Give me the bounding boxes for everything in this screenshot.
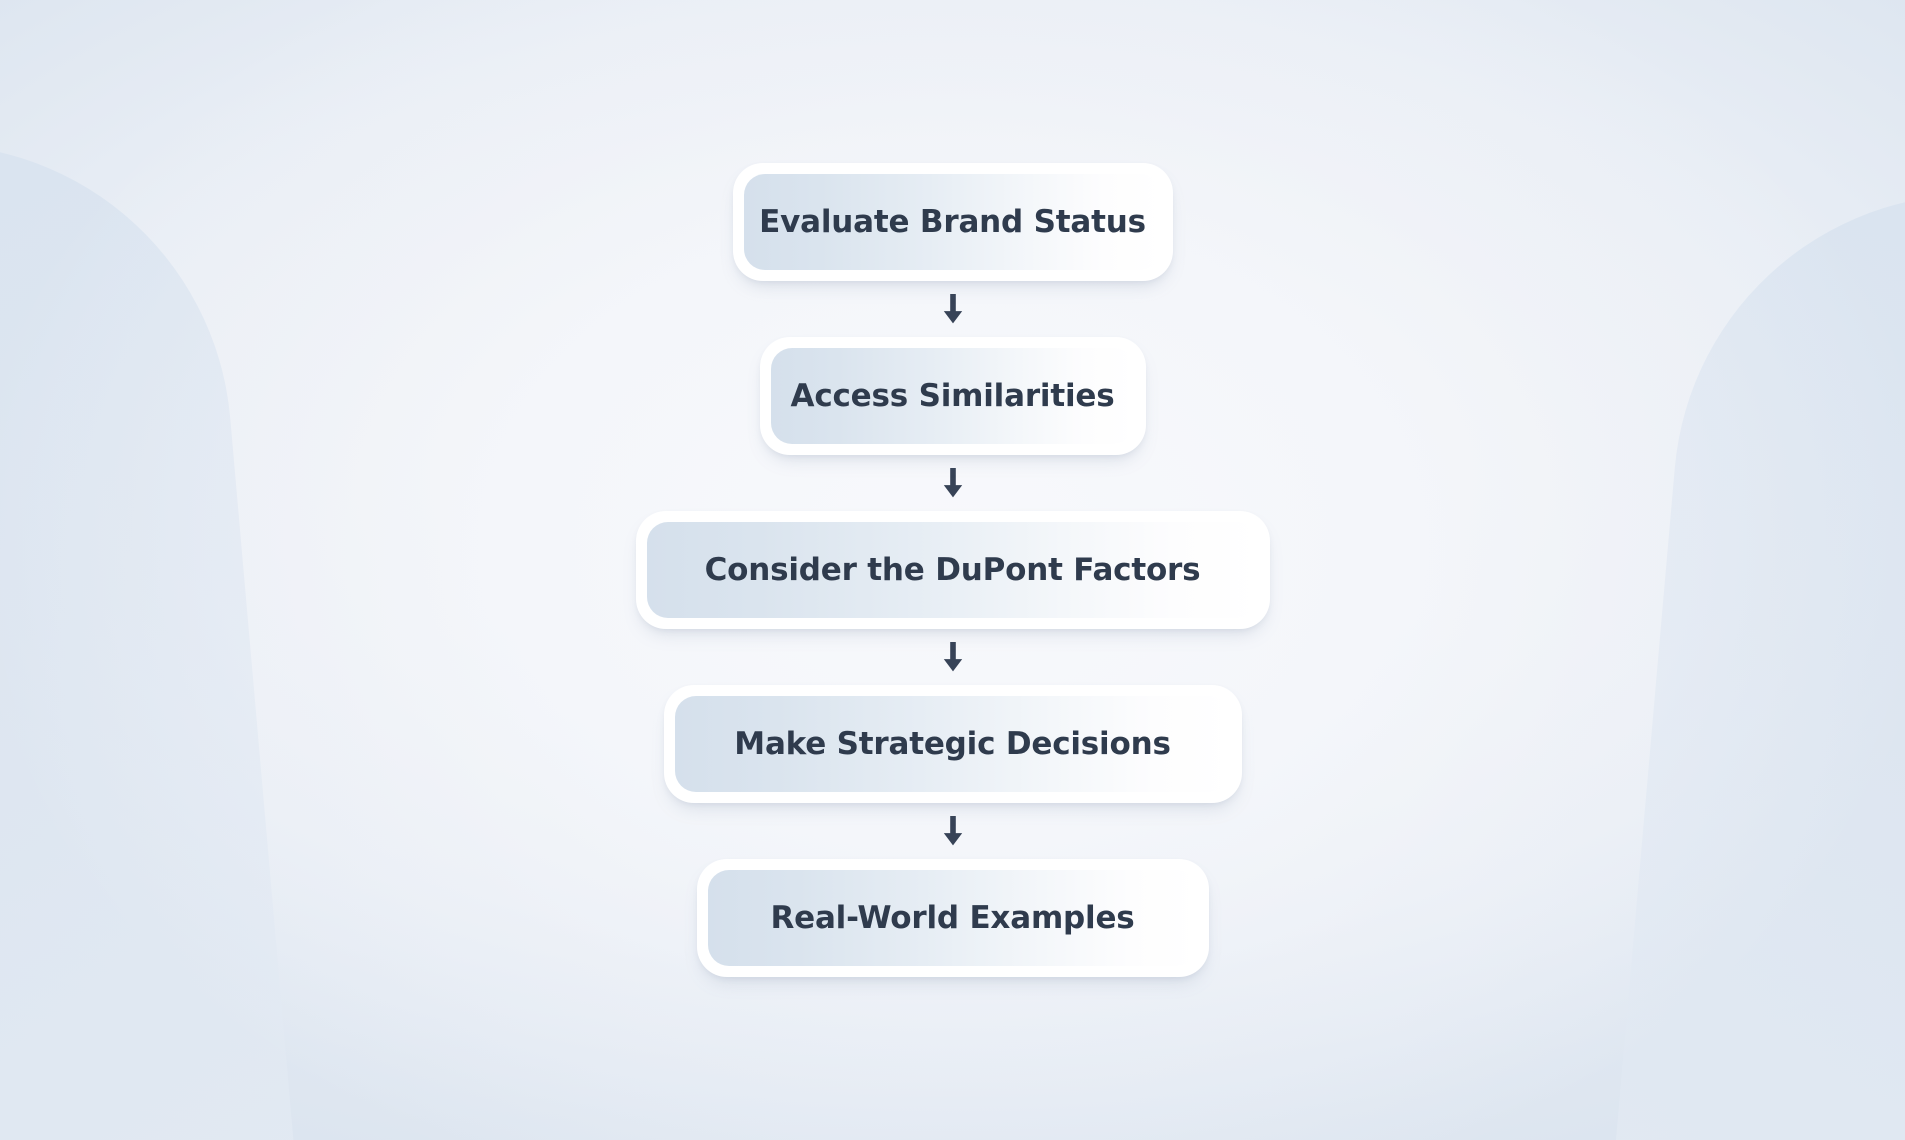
flow-connector-1-2	[940, 281, 966, 337]
flow-node-2[interactable]: Access Similarities	[760, 337, 1146, 455]
diagram-canvas: Evaluate Brand Status Access Similaritie…	[0, 0, 1905, 1140]
flow-node-1-label: Evaluate Brand Status	[759, 207, 1146, 238]
flow-node-4-label: Make Strategic Decisions	[734, 729, 1170, 760]
flow-node-5-label: Real-World Examples	[770, 903, 1134, 934]
flow-node-2-surface: Access Similarities	[771, 348, 1135, 444]
arrow-down-icon	[940, 468, 966, 498]
flow-node-2-label: Access Similarities	[791, 381, 1115, 412]
flow-node-5[interactable]: Real-World Examples	[697, 859, 1209, 977]
flowchart: Evaluate Brand Status Access Similaritie…	[0, 0, 1905, 1140]
flow-node-1[interactable]: Evaluate Brand Status	[733, 163, 1173, 281]
flow-connector-3-4	[940, 629, 966, 685]
flow-node-4[interactable]: Make Strategic Decisions	[664, 685, 1242, 803]
flow-node-1-surface: Evaluate Brand Status	[744, 174, 1162, 270]
flow-node-3[interactable]: Consider the DuPont Factors	[636, 511, 1270, 629]
arrow-down-icon	[940, 294, 966, 324]
flow-connector-2-3	[940, 455, 966, 511]
flow-connector-4-5	[940, 803, 966, 859]
arrow-down-icon	[940, 816, 966, 846]
flow-node-4-surface: Make Strategic Decisions	[675, 696, 1231, 792]
flow-node-3-label: Consider the DuPont Factors	[705, 555, 1201, 586]
arrow-down-icon	[940, 642, 966, 672]
flow-node-3-surface: Consider the DuPont Factors	[647, 522, 1259, 618]
flow-node-5-surface: Real-World Examples	[708, 870, 1198, 966]
